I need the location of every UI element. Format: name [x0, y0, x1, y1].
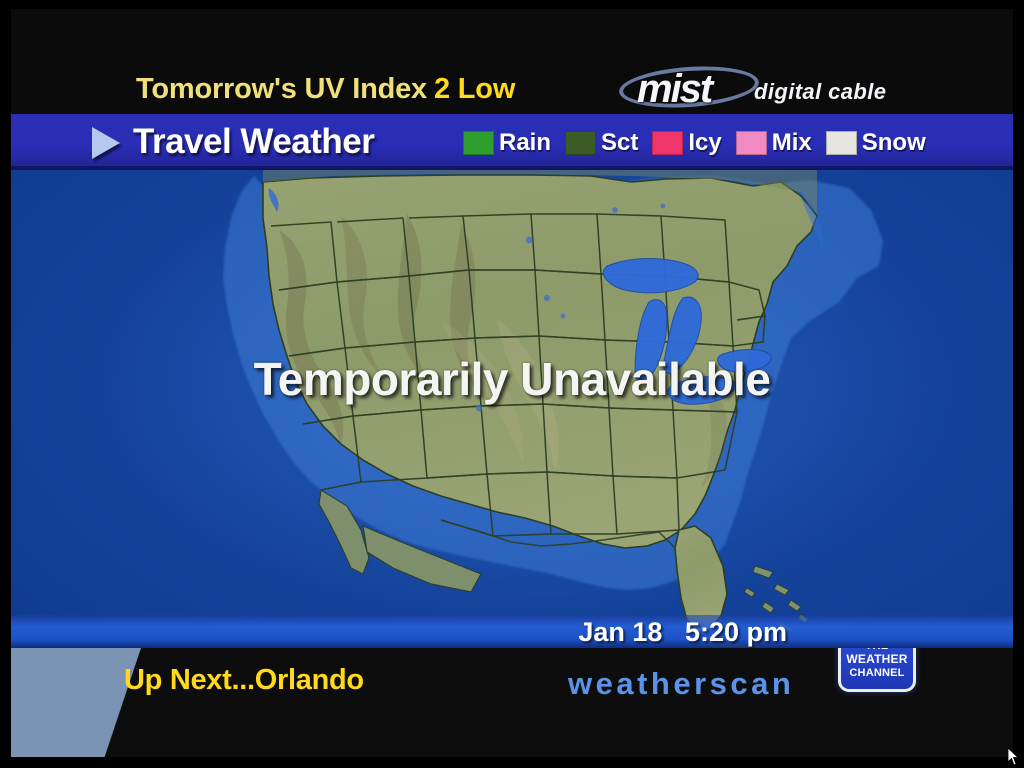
page-title: Travel Weather — [133, 122, 374, 162]
legend-label-mix: Mix — [772, 129, 812, 157]
uv-index-value: 2 Low — [434, 73, 515, 105]
date-time-bar: Jan 18 5:20 pm — [11, 615, 1013, 648]
provider-name: mist — [637, 67, 711, 112]
map-status-message: Temporarily Unavailable — [11, 352, 1013, 406]
us-map-graphic — [11, 170, 1013, 648]
weather-channel-logo: THE WEATHER CHANNEL — [838, 648, 916, 692]
weather-map[interactable]: Temporarily Unavailable — [11, 170, 1013, 648]
mouse-cursor-icon — [1008, 748, 1020, 766]
twc-logo-line3: CHANNEL — [849, 667, 904, 679]
legend-item-icy: Icy — [652, 129, 721, 157]
up-next-text: Up Next...Orlando — [124, 664, 364, 697]
legend-label-snow: Snow — [862, 129, 926, 157]
frame-left — [0, 0, 11, 768]
twc-logo-line1: THE — [865, 648, 889, 652]
uv-index-label: Tomorrow's UV Index — [136, 73, 427, 105]
top-header: Tomorrow's UV Index2 Low mist digital ca… — [11, 9, 1013, 114]
date-time-text: Jan 18 5:20 pm — [578, 617, 787, 648]
corner-wedge-decoration — [11, 648, 141, 757]
provider-tagline: digital cable — [754, 79, 886, 105]
play-triangle-icon — [92, 127, 120, 159]
weatherscan-screen: Temporarily Unavailable Jan 18 5:20 pm T… — [0, 0, 1024, 768]
provider-logo: mist digital cable — [619, 61, 909, 113]
legend-swatch-mix — [736, 131, 767, 155]
section-title-bar: Travel Weather Rain Sct Icy Mix Snow — [11, 114, 1013, 170]
legend-label-icy: Icy — [688, 129, 721, 157]
twc-logo-line2: WEATHER — [846, 653, 907, 666]
frame-right — [1013, 0, 1024, 768]
legend-item-rain: Rain — [463, 129, 551, 157]
uv-index-readout: Tomorrow's UV Index2 Low — [136, 73, 515, 106]
legend-item-sct: Sct — [565, 129, 638, 157]
legend-label-rain: Rain — [499, 129, 551, 157]
network-wordmark: weatherscan — [568, 666, 794, 702]
precip-legend: Rain Sct Icy Mix Snow — [463, 128, 940, 158]
legend-swatch-icy — [652, 131, 683, 155]
legend-swatch-rain — [463, 131, 494, 155]
frame-bottom — [0, 757, 1024, 768]
legend-item-snow: Snow — [826, 129, 926, 157]
legend-swatch-snow — [826, 131, 857, 155]
legend-item-mix: Mix — [736, 129, 812, 157]
legend-swatch-sct — [565, 131, 596, 155]
legend-label-sct: Sct — [601, 129, 638, 157]
frame-top — [0, 0, 1024, 9]
bottom-bar: Up Next...Orlando weatherscan THE WEATHE… — [11, 648, 1013, 757]
